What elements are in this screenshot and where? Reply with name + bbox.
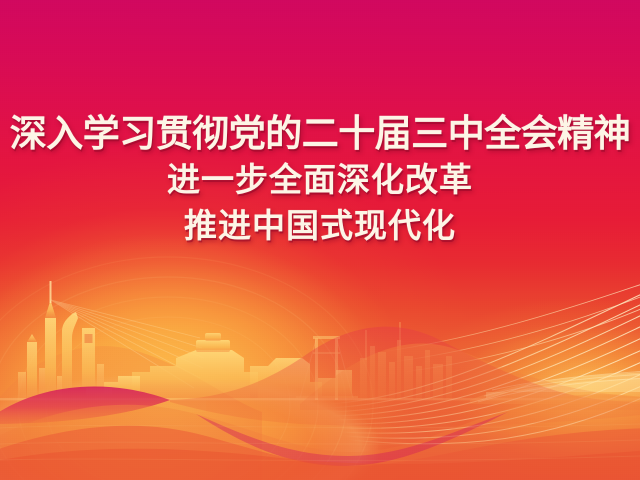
headline-line-1: 深入学习贯彻党的二十届三中全会精神 (0, 110, 640, 157)
headline-block: 深入学习贯彻党的二十届三中全会精神 进一步全面深化改革 推进中国式现代化 (0, 110, 640, 249)
headline-line-2: 进一步全面深化改革 (0, 157, 640, 203)
headline-line-3: 推进中国式现代化 (0, 203, 640, 249)
poster-canvas: 深入学习贯彻党的二十届三中全会精神 进一步全面深化改革 推进中国式现代化 (0, 0, 640, 480)
